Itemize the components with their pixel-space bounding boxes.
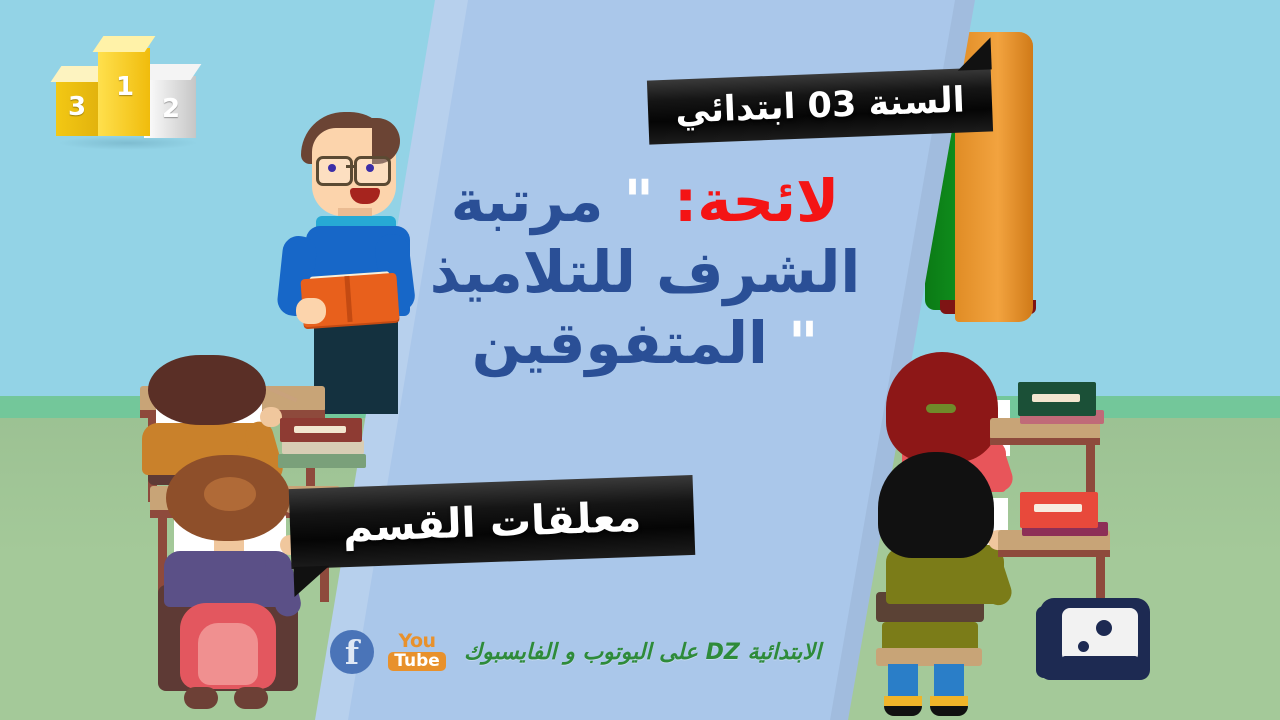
teacher-character xyxy=(272,108,432,408)
footer-caption: الابتدائية DZ على اليوتوب و الفايسبوك xyxy=(464,640,821,665)
teacher-hand xyxy=(296,298,326,324)
youtube-you-text: You xyxy=(386,633,448,650)
student-shoe-right xyxy=(930,696,968,716)
student-hair xyxy=(878,452,994,558)
headline-quote-open: " xyxy=(624,167,654,235)
facebook-glyph: f xyxy=(330,630,374,674)
book xyxy=(282,440,364,454)
book-label xyxy=(294,426,346,433)
teacher-eye-left xyxy=(328,164,336,172)
student-hair-bun xyxy=(204,477,256,511)
winners-podium: 3 2 1 xyxy=(52,32,202,147)
hair-clip xyxy=(926,404,956,413)
grade-banner-tail xyxy=(957,37,992,70)
section-banner-label: معلقات القسم xyxy=(342,493,642,551)
podium-number-first: 1 xyxy=(116,72,134,102)
student-leg-right xyxy=(934,664,964,700)
student-backpack-pocket xyxy=(198,623,258,685)
headline-line-1: لائحة: " مرتبة xyxy=(410,166,880,237)
grade-banner-label: السنة 03 ابتدائي xyxy=(675,80,966,131)
poster-headline: لائحة: " مرتبة الشرف للتلاميذ " المتفوقي… xyxy=(410,166,880,378)
podium-top-first xyxy=(93,36,156,52)
poster-canvas: 3 2 1 xyxy=(0,0,1280,720)
book-stack-left xyxy=(278,418,368,468)
headline-body-1: مرتبة xyxy=(451,167,604,235)
student-leg-left xyxy=(888,664,918,700)
student-shoe-right xyxy=(234,687,268,709)
book-stack-right-front xyxy=(1020,492,1110,538)
backpack-dot-large xyxy=(1096,620,1112,636)
footer-bar: f You Tube الابتدائية DZ على اليوتوب و ا… xyxy=(330,624,800,680)
headline-quote-close: " xyxy=(788,309,818,377)
headline-line-2: الشرف للتلاميذ xyxy=(410,237,880,308)
teacher-eye-right xyxy=(366,164,374,172)
book-stack-right-back xyxy=(1018,382,1104,426)
section-banner: معلقات القسم xyxy=(289,475,696,569)
podium-shadow xyxy=(58,136,198,150)
section-banner-tail xyxy=(293,566,330,597)
youtube-icon[interactable]: You Tube xyxy=(386,633,448,671)
podium-number-second: 2 xyxy=(162,94,180,124)
student-hair xyxy=(148,355,266,425)
podium-number-third: 3 xyxy=(68,92,86,122)
book xyxy=(278,454,366,468)
headline-line-3: " المتفوقين xyxy=(410,308,880,379)
grade-banner: السنة 03 ابتدائي xyxy=(647,67,993,144)
student-shoe-left xyxy=(184,687,218,709)
book-label xyxy=(1032,394,1080,402)
headline-body-3: المتفوقين xyxy=(472,309,768,377)
student-shoe-left xyxy=(884,696,922,716)
backpack-stripe xyxy=(1062,656,1138,664)
backpack-dot-small xyxy=(1078,641,1089,652)
desk-edge xyxy=(990,438,1100,445)
teacher-glasses-bridge xyxy=(346,165,356,168)
facebook-icon[interactable]: f xyxy=(330,630,374,674)
youtube-tube-text: Tube xyxy=(388,652,446,671)
headline-prefix: لائحة: xyxy=(674,167,839,235)
desk-edge xyxy=(998,550,1110,557)
book-label xyxy=(1034,504,1082,512)
